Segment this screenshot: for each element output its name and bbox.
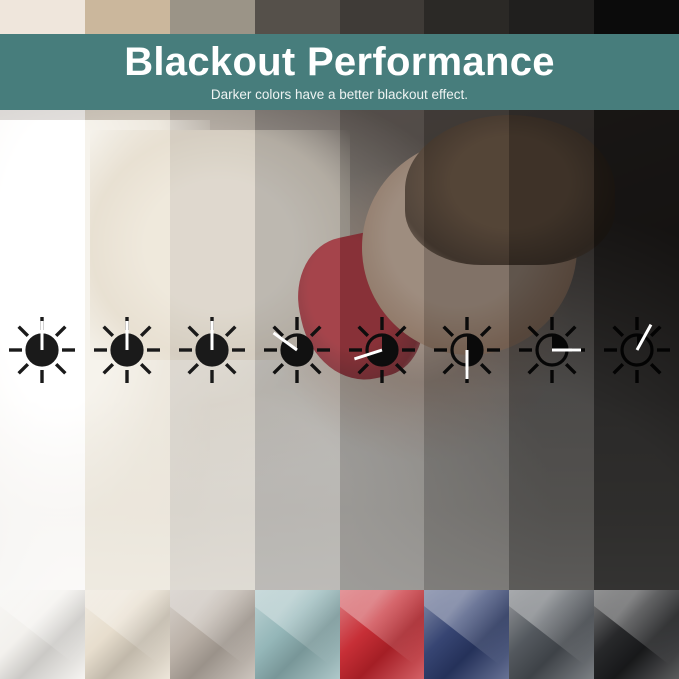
- swatch-beige: [85, 590, 170, 679]
- top-strip-beige: [85, 0, 170, 34]
- swatch-black: [594, 590, 679, 679]
- swatch-white: [0, 590, 85, 679]
- fabric-overlay-taupe: [170, 110, 255, 590]
- fabric-overlay-black: [594, 110, 679, 590]
- fabric-overlay-navy: [424, 110, 509, 590]
- top-strip-sage-blue: [255, 0, 340, 34]
- headline-banner: Blackout Performance Darker colors have …: [0, 34, 679, 110]
- top-strip-navy: [424, 0, 509, 34]
- top-strip-red: [340, 0, 425, 34]
- top-strip-dark-grey: [509, 0, 594, 34]
- fabric-overlay-dark-grey: [509, 110, 594, 590]
- fabric-overlay-sage-blue: [255, 110, 340, 590]
- fabric-overlay-columns: [0, 110, 679, 590]
- fabric-swatch-row: [0, 590, 679, 679]
- fabric-overlay-white: [0, 110, 85, 590]
- top-strip-white: [0, 0, 85, 34]
- swatch-taupe: [170, 590, 255, 679]
- top-strip-black: [594, 0, 679, 34]
- swatch-sage-blue: [255, 590, 340, 679]
- swatch-red: [340, 590, 425, 679]
- page-subtitle: Darker colors have a better blackout eff…: [211, 87, 468, 102]
- top-color-strip: [0, 0, 679, 34]
- swatch-dark-grey: [509, 590, 594, 679]
- blackout-performance-infographic: Blackout Performance Darker colors have …: [0, 0, 679, 679]
- fabric-overlay-red: [340, 110, 425, 590]
- fabric-overlay-beige: [85, 110, 170, 590]
- page-title: Blackout Performance: [124, 42, 555, 83]
- bedroom-photo: [0, 110, 679, 590]
- swatch-navy: [424, 590, 509, 679]
- top-strip-taupe: [170, 0, 255, 34]
